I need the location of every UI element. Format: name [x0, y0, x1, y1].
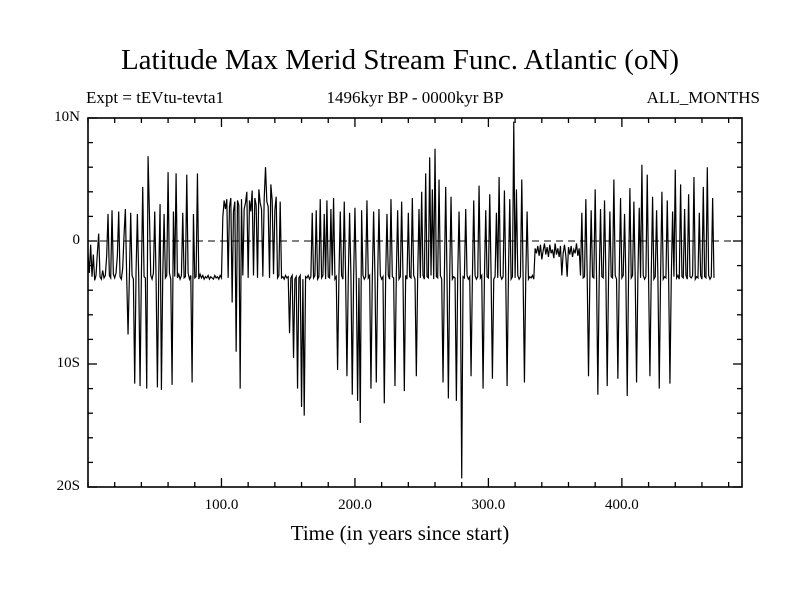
- x-tick-label-200.0: 200.0: [310, 497, 400, 514]
- x-tick-label-400.0: 400.0: [577, 497, 667, 514]
- series-path: [88, 122, 714, 479]
- x-tick-label-100.0: 100.0: [176, 497, 266, 514]
- x-tick-label-300.0: 300.0: [443, 497, 533, 514]
- x-axis-title: Time (in years since start): [0, 521, 800, 546]
- y-tick-label-20S: 20S: [20, 478, 80, 495]
- y-tick-label-0: 0: [20, 232, 80, 249]
- plot-area: [0, 0, 800, 600]
- y-tick-label-10N: 10N: [20, 109, 80, 126]
- chart-figure: Latitude Max Merid Stream Func. Atlantic…: [0, 0, 800, 600]
- y-tick-label-10S: 10S: [20, 355, 80, 372]
- data-series-line: [88, 122, 714, 479]
